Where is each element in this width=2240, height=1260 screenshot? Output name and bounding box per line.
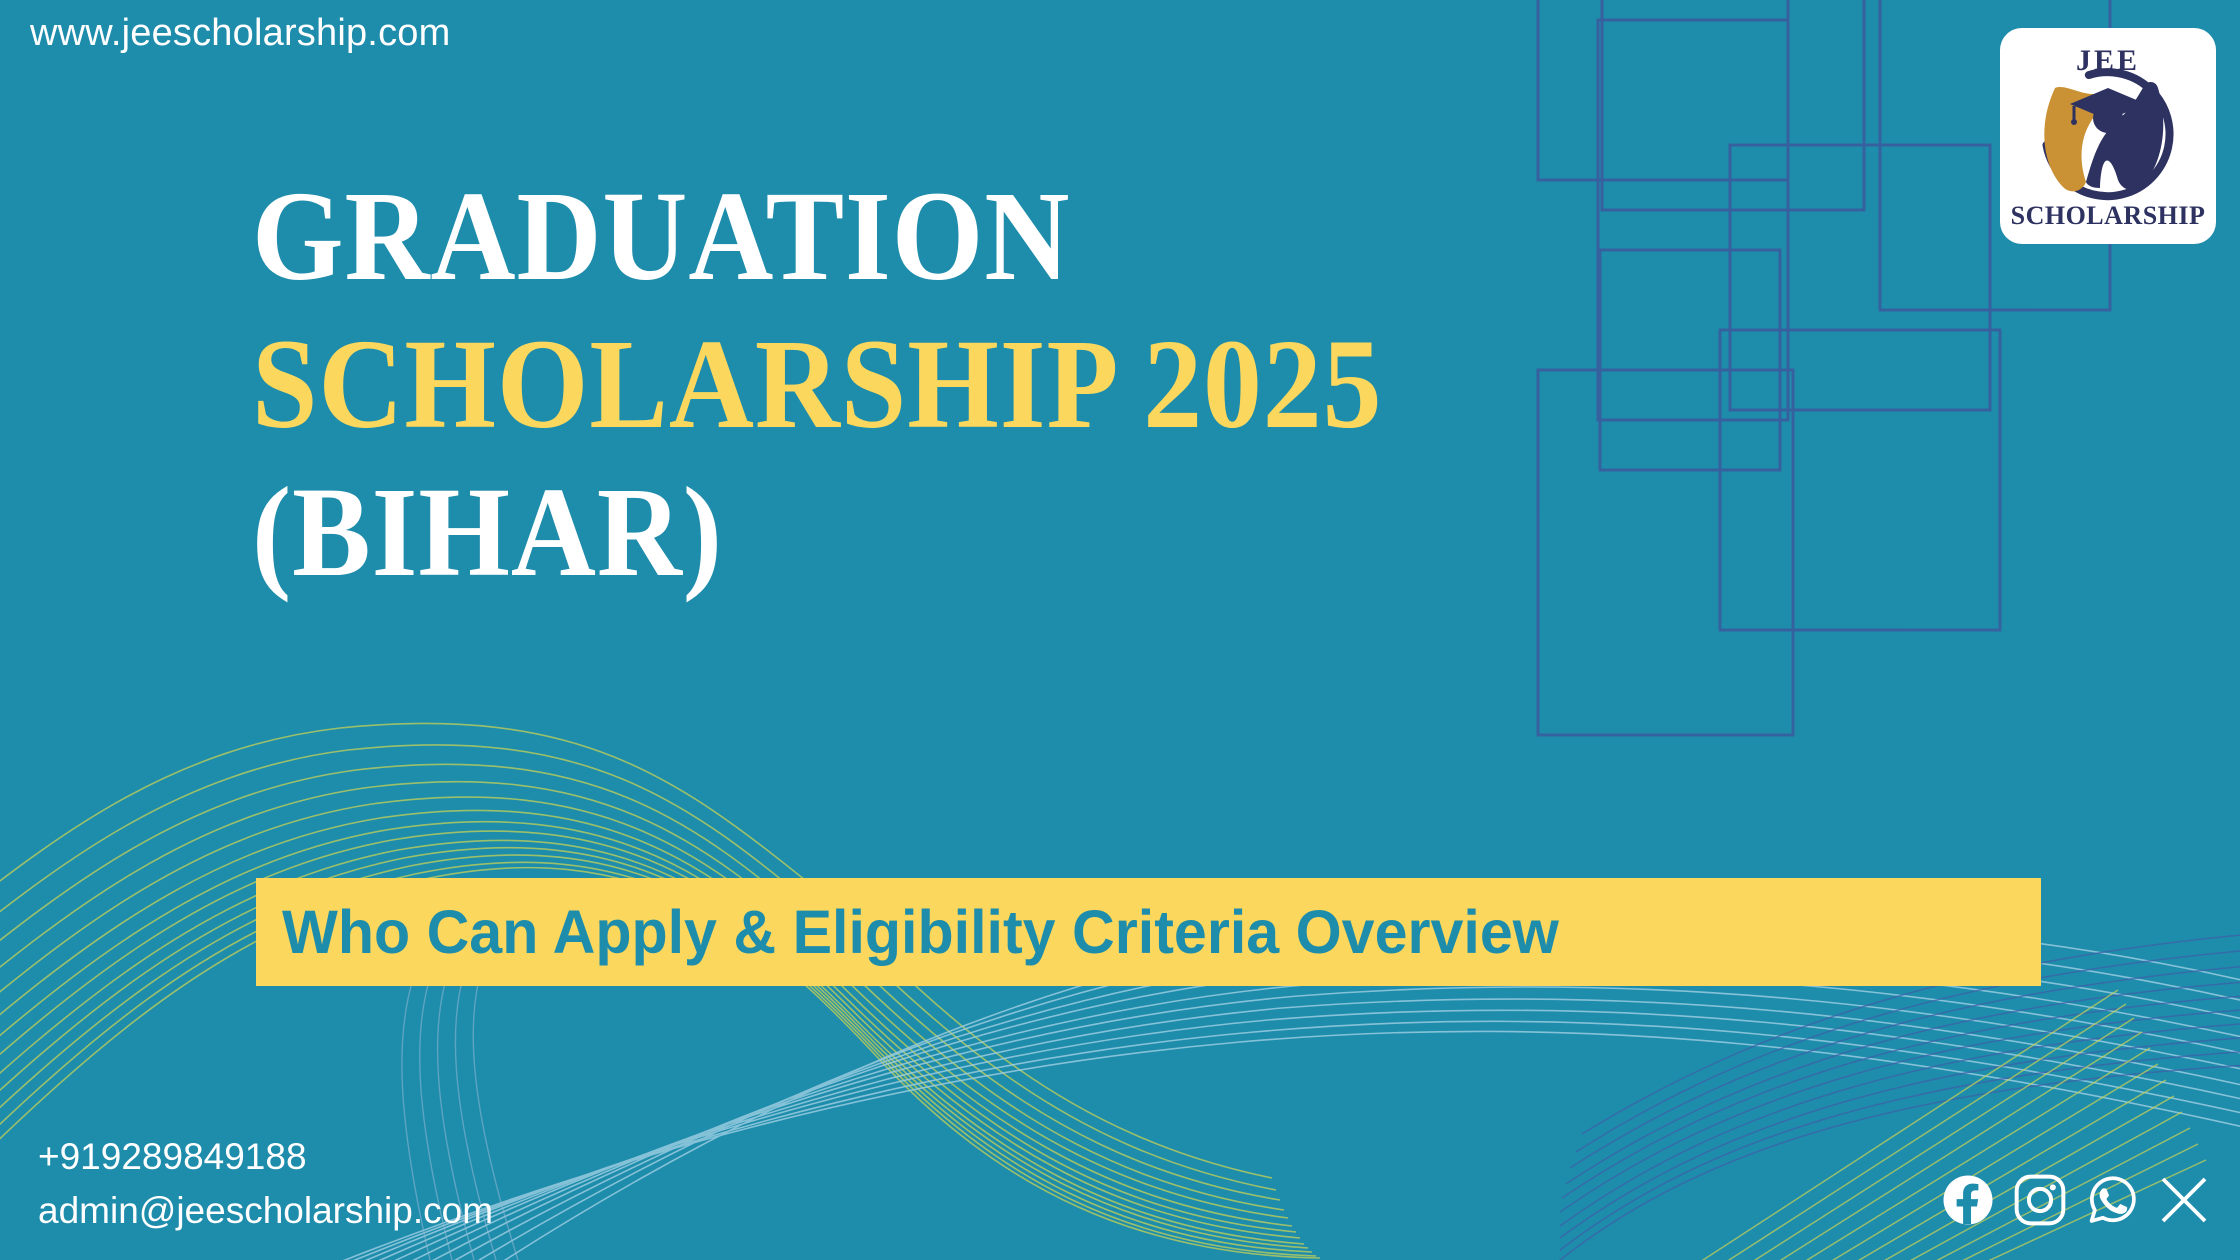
page-title: GRADUATION SCHOLARSHIP 2025 (BIHAR) <box>252 162 1752 606</box>
social-icon-row <box>1940 1172 2212 1228</box>
contact-email: admin@jeescholarship.com <box>38 1184 493 1238</box>
contact-phone: +919289849188 <box>38 1130 493 1184</box>
x-twitter-icon[interactable] <box>2156 1172 2212 1228</box>
headline-line-1: GRADUATION <box>252 162 1632 310</box>
whatsapp-icon[interactable] <box>2084 1172 2140 1228</box>
subtitle-text: Who Can Apply & Eligibility Criteria Ove… <box>282 897 1559 967</box>
subtitle-banner: Who Can Apply & Eligibility Criteria Ove… <box>256 878 2041 986</box>
site-url-text: www.jeescholarship.com <box>30 12 450 55</box>
graduate-figure-icon: JEE SCHOLARSHIP <box>2008 36 2208 236</box>
headline-line-2: SCHOLARSHIP 2025 <box>252 310 1632 458</box>
headline-line-3: (BIHAR) <box>252 458 1632 606</box>
contact-info: +919289849188 admin@jeescholarship.com <box>38 1130 493 1238</box>
instagram-icon[interactable] <box>2012 1172 2068 1228</box>
poster-canvas: www.jeescholarship.com JEE SCHOLARSHIP G… <box>0 0 2240 1260</box>
svg-text:SCHOLARSHIP: SCHOLARSHIP <box>2011 201 2206 230</box>
facebook-icon[interactable] <box>1940 1172 1996 1228</box>
brand-logo-badge: JEE SCHOLARSHIP <box>2000 28 2216 244</box>
